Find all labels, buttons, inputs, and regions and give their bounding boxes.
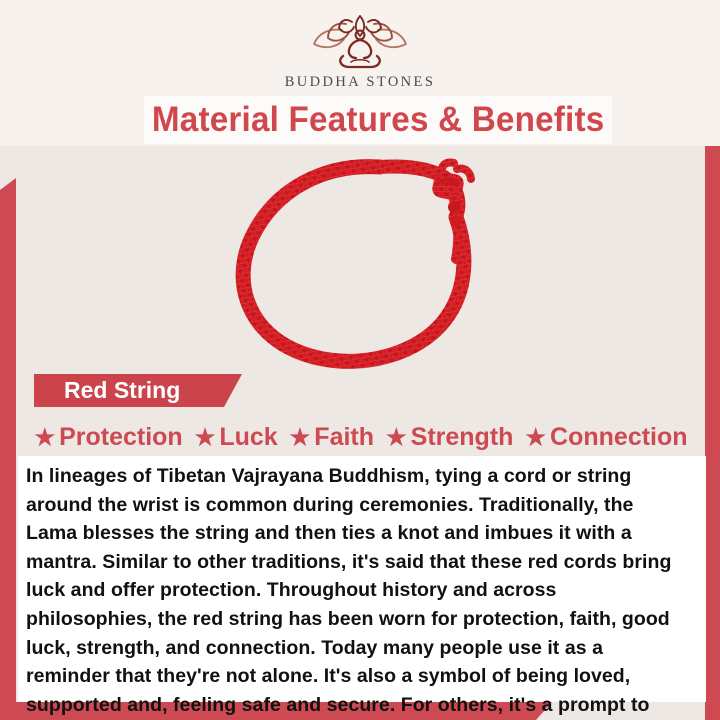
product-image-area	[16, 146, 705, 378]
brand-name: BUDDHA STONES	[285, 74, 436, 91]
material-label: Red String	[64, 377, 180, 404]
benefit-label: Connection	[550, 423, 688, 452]
benefits-row: ★ Protection ★ Luck ★ Faith ★ Strength ★…	[16, 418, 706, 456]
benefit-label: Strength	[411, 423, 514, 452]
benefit-item: ★ Protection	[34, 423, 182, 452]
star-icon: ★	[290, 426, 311, 449]
infographic-page: BUDDHA STONES Material Features & Benefi…	[0, 0, 720, 720]
benefit-label: Faith	[314, 423, 374, 452]
benefit-label: Protection	[59, 423, 183, 452]
star-icon: ★	[195, 426, 216, 449]
benefit-label: Luck	[219, 423, 277, 452]
brand-logo: BUDDHA STONES	[0, 14, 720, 91]
title-banner: Material Features & Benefits	[144, 96, 612, 144]
description-card: In lineages of Tibetan Vajrayana Buddhis…	[18, 456, 706, 702]
star-icon: ★	[386, 426, 407, 449]
description-text: In lineages of Tibetan Vajrayana Buddhis…	[26, 462, 682, 720]
red-string-bracelet-image	[230, 155, 492, 369]
lotus-meditation-icon	[298, 14, 422, 70]
material-label-banner: Red String	[34, 374, 242, 407]
left-red-accent-bar	[0, 178, 16, 720]
benefit-item: ★ Connection	[525, 423, 687, 452]
star-icon: ★	[34, 426, 55, 449]
benefit-item: ★ Luck	[195, 423, 278, 452]
page-title: Material Features & Benefits	[152, 100, 604, 140]
benefit-item: ★ Faith	[290, 423, 374, 452]
star-icon: ★	[525, 426, 546, 449]
benefit-item: ★ Strength	[386, 423, 513, 452]
